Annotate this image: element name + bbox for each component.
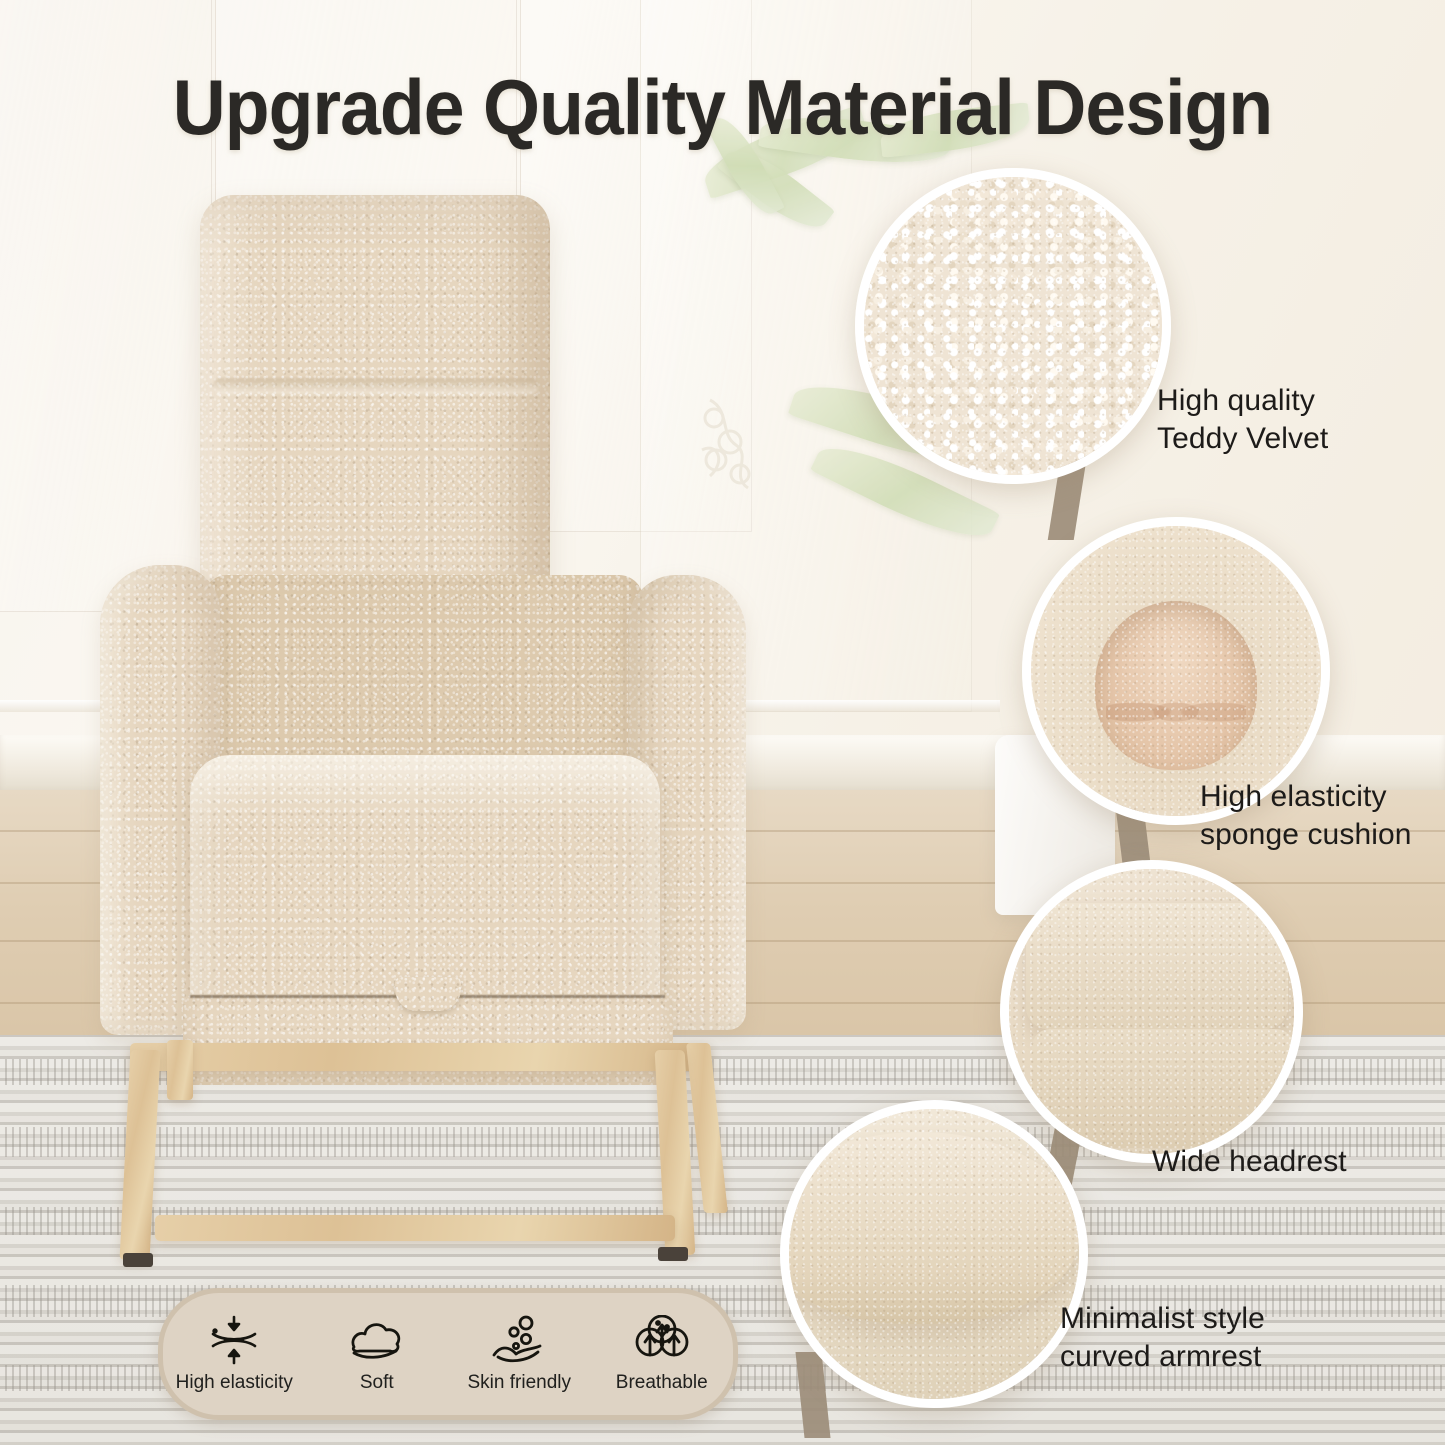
chair-foot-cap: [123, 1253, 153, 1267]
wood-leg-back-right: [686, 1043, 728, 1213]
rocking-chair: [95, 195, 775, 1280]
page-title: Upgrade Quality Material Design: [43, 62, 1401, 153]
product-infographic: Upgrade Quality Material Design High qua…: [0, 0, 1445, 1445]
fabric-pull-tab: [395, 977, 461, 1011]
wood-rail-top: [130, 1043, 710, 1071]
feature-badge-skin-friendly: Skin friendly: [450, 1314, 588, 1394]
fabric-texture-closeup-icon: [864, 177, 1162, 475]
feature-badge-breathable: Breathable: [593, 1314, 731, 1394]
feature-badge-label: High elasticity: [176, 1372, 293, 1394]
chair-foot-cap: [658, 1247, 688, 1261]
callout-label-wide-headrest: Wide headrest: [1152, 1143, 1347, 1181]
feature-badge-bar: High elasticity Soft: [158, 1288, 738, 1420]
headrest-seam: [213, 378, 539, 394]
callout-label-curved-armrest: Minimalist style curved armrest: [1060, 1300, 1265, 1377]
trees-arrows-icon: [633, 1314, 691, 1366]
hand-pressing-cushion-icon: [1031, 526, 1321, 816]
hand-bubbles-icon: [490, 1314, 548, 1366]
feature-badge-label: Breathable: [616, 1372, 708, 1394]
callout-circle-curved-armrest: [780, 1100, 1088, 1408]
feature-badge-high-elasticity: High elasticity: [165, 1314, 303, 1394]
armrest-closeup-icon: [789, 1109, 1079, 1399]
feature-badge-soft: Soft: [308, 1314, 446, 1394]
wood-stretcher: [155, 1215, 675, 1241]
feature-badge-label: Skin friendly: [468, 1372, 572, 1394]
callout-circle-teddy-velvet: [855, 168, 1171, 484]
cloud-icon: [348, 1314, 406, 1366]
compression-arrows-icon: [207, 1314, 261, 1366]
callout-label-teddy-velvet: High quality Teddy Velvet: [1157, 382, 1328, 459]
callout-label-sponge-cushion: High elasticity sponge cushion: [1200, 778, 1412, 855]
wood-leg-back-left: [167, 1040, 193, 1100]
feature-badge-label: Soft: [360, 1372, 394, 1394]
